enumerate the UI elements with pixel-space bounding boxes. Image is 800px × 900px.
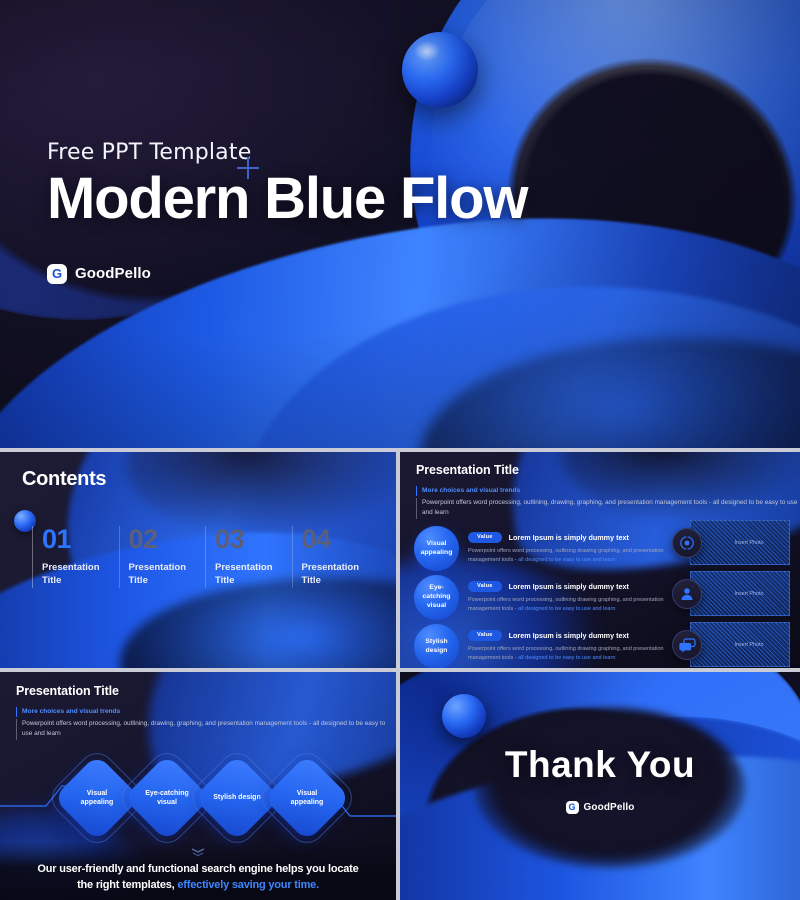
thank-you-title: Thank You xyxy=(505,746,695,783)
list-item-desc-highlight: all designed to be easy to use and learn xyxy=(518,655,615,661)
diamond-item[interactable]: Visual appealing xyxy=(276,767,338,829)
diamonds-slide-subtitle: More choices and visual trends xyxy=(16,707,396,717)
hero-text-block: Free PPT Template Modern Blue Flow G Goo… xyxy=(47,140,527,284)
list-item-head: Value Lorem Ipsum is simply dummy text xyxy=(468,532,686,543)
list-slide-subtitle: More choices and visual trends xyxy=(416,486,800,496)
list-item-headline: Lorem Ipsum is simply dummy text xyxy=(509,631,629,640)
chat-icon xyxy=(672,630,702,660)
slide-diamonds[interactable]: Presentation Title More choices and visu… xyxy=(0,672,396,900)
contents-number: 01 xyxy=(42,526,119,553)
photo-placeholder-list: Insert Photo Insert Photo xyxy=(672,520,790,668)
list-item-headline: Lorem Ipsum is simply dummy text xyxy=(509,533,629,542)
thanks-content: Thank You G GoodPello xyxy=(400,746,800,814)
contents-number: 03 xyxy=(215,526,292,553)
list-item-desc: Powerpoint offers word processing, outli… xyxy=(468,596,686,614)
diamond-label: Visual appealing xyxy=(276,767,338,829)
diamond-item[interactable]: Eye-catching visual xyxy=(136,767,198,829)
list-item-circle: Eye-catching visual xyxy=(414,575,459,620)
person-icon xyxy=(672,579,702,609)
diamonds-slide-body: Powerpoint offers word processing, outli… xyxy=(16,719,396,740)
photo-box[interactable]: Insert Photo xyxy=(690,571,790,616)
list-item-circle: Stylish design xyxy=(414,624,459,668)
list-item-head: Value Lorem Ipsum is simply dummy text xyxy=(468,581,686,592)
contents-columns: 01 Presentation Title 02 Presentation Ti… xyxy=(32,526,378,588)
photo-box[interactable]: Insert Photo xyxy=(690,520,790,565)
contents-item-title: Presentation Title xyxy=(302,562,379,588)
contents-heading: Contents xyxy=(22,468,106,491)
contents-number: 04 xyxy=(302,526,379,553)
photo-label: Insert Photo xyxy=(716,591,763,597)
diamonds-header: Presentation Title More choices and visu… xyxy=(16,684,396,740)
brand-name: GoodPello xyxy=(584,802,635,813)
contents-item-04[interactable]: 04 Presentation Title xyxy=(292,526,379,588)
contents-item-title: Presentation Title xyxy=(42,562,119,588)
list-item-desc-highlight: all designed to be easy to use and learn xyxy=(518,557,615,563)
photo-label: Insert Photo xyxy=(716,540,763,546)
contents-item-title: Presentation Title xyxy=(129,562,206,588)
diamond-item[interactable]: Visual appealing xyxy=(66,767,128,829)
photo-placeholder[interactable]: Insert Photo xyxy=(672,622,790,667)
list-item-desc: Powerpoint offers word processing, outli… xyxy=(468,547,686,565)
chevron-down-icon xyxy=(190,848,206,857)
list-item-circle: Visual appealing xyxy=(414,526,459,571)
value-badge: Value xyxy=(468,581,502,592)
photo-box[interactable]: Insert Photo xyxy=(690,622,790,667)
diamond-label: Visual appealing xyxy=(66,767,128,829)
diamond-label: Stylish design xyxy=(206,767,268,829)
photo-placeholder[interactable]: Insert Photo xyxy=(672,571,790,616)
list-slide-title: Presentation Title xyxy=(416,463,800,477)
target-icon xyxy=(672,528,702,558)
thanks-sphere-shape xyxy=(442,694,486,738)
list-item-content: Value Lorem Ipsum is simply dummy text P… xyxy=(468,630,686,662)
hero-sphere-shape xyxy=(402,32,478,108)
thanks-brand: G GoodPello xyxy=(566,801,635,814)
goodpello-logo-icon: G xyxy=(566,801,579,814)
photo-placeholder[interactable]: Insert Photo xyxy=(672,520,790,565)
slide-deck-preview: Free PPT Template Modern Blue Flow G Goo… xyxy=(0,0,800,900)
list-item[interactable]: Visual appealing Value Lorem Ipsum is si… xyxy=(414,524,686,573)
list-item[interactable]: Stylish design Value Lorem Ipsum is simp… xyxy=(414,622,686,668)
contents-number: 02 xyxy=(129,526,206,553)
value-badge: Value xyxy=(468,532,502,543)
list-slide-body: Powerpoint offers word processing, outli… xyxy=(416,498,800,519)
brand-name: GoodPello xyxy=(75,265,151,282)
contents-item-03[interactable]: 03 Presentation Title xyxy=(205,526,292,588)
contents-item-02[interactable]: 02 Presentation Title xyxy=(119,526,206,588)
list-item-content: Value Lorem Ipsum is simply dummy text P… xyxy=(468,532,686,564)
list-rows: Visual appealing Value Lorem Ipsum is si… xyxy=(414,524,686,668)
list-item-desc-highlight: all designed to be easy to use and learn xyxy=(518,606,615,612)
diamonds-caption: Our user-friendly and functional search … xyxy=(33,862,363,893)
slide-list[interactable]: Presentation Title More choices and visu… xyxy=(400,452,800,668)
goodpello-logo-icon: G xyxy=(47,264,67,284)
slide-contents[interactable]: Contents 01 Presentation Title 02 Presen… xyxy=(0,452,396,668)
diamond-label: Eye-catching visual xyxy=(136,767,198,829)
list-item-content: Value Lorem Ipsum is simply dummy text P… xyxy=(468,581,686,613)
plus-decoration-icon xyxy=(237,157,259,179)
diamonds-slide-title: Presentation Title xyxy=(16,684,396,698)
caption-highlight: effectively saving your time. xyxy=(177,879,319,891)
contents-item-title: Presentation Title xyxy=(215,562,292,588)
diamond-item[interactable]: Stylish design xyxy=(206,767,268,829)
list-item-desc: Powerpoint offers word processing, outli… xyxy=(468,645,686,663)
list-item-head: Value Lorem Ipsum is simply dummy text xyxy=(468,630,686,641)
list-item[interactable]: Eye-catching visual Value Lorem Ipsum is… xyxy=(414,573,686,622)
diamonds-caption-bar: Our user-friendly and functional search … xyxy=(0,842,396,900)
hero-eyebrow: Free PPT Template xyxy=(47,140,527,165)
photo-label: Insert Photo xyxy=(716,642,763,648)
value-badge: Value xyxy=(468,630,502,641)
hero-brand: G GoodPello xyxy=(47,264,527,284)
list-item-headline: Lorem Ipsum is simply dummy text xyxy=(509,582,629,591)
diamond-list: Visual appealing Eye-catching visual Sty… xyxy=(66,767,338,829)
list-header: Presentation Title More choices and visu… xyxy=(416,463,800,519)
contents-item-01[interactable]: 01 Presentation Title xyxy=(32,526,119,588)
slide-hero[interactable]: Free PPT Template Modern Blue Flow G Goo… xyxy=(0,0,800,448)
hero-title: Modern Blue Flow xyxy=(47,169,527,230)
slide-thank-you[interactable]: Thank You G GoodPello xyxy=(400,672,800,900)
